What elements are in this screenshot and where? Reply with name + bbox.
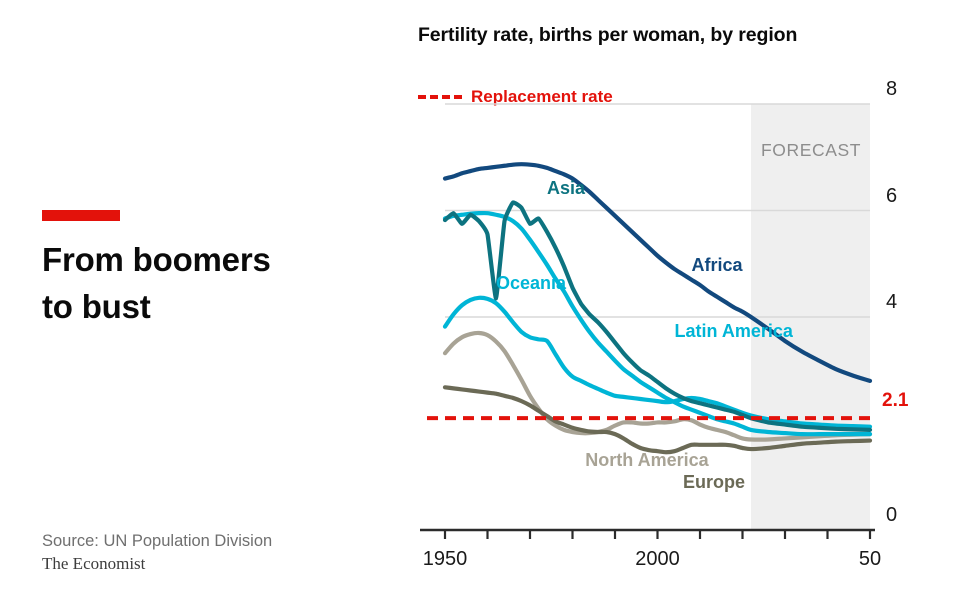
- x-tick-label: 2000: [635, 548, 680, 571]
- source-block: Source: UN Population Division The Econo…: [42, 530, 382, 575]
- headline-line-2: to bust: [42, 284, 372, 331]
- y-tick-label: 4: [886, 291, 897, 314]
- page-title: From boomers to bust: [42, 237, 372, 331]
- headline-panel: From boomers to bust Source: UN Populati…: [0, 0, 400, 600]
- y-tick-label: 6: [886, 185, 897, 208]
- chart-panel: Fertility rate, births per woman, by reg…: [400, 0, 980, 600]
- source-credit: Source: UN Population Division: [42, 530, 382, 552]
- series-label-latin-america: Latin America: [675, 321, 793, 342]
- series-label-north-america: North America: [585, 450, 708, 471]
- brand-name: The Economist: [42, 553, 382, 575]
- series-label-asia: Asia: [547, 178, 585, 199]
- series-label-africa: Africa: [692, 255, 743, 276]
- red-rule: [42, 210, 120, 221]
- replacement-rate-value-label: 2.1: [882, 390, 908, 412]
- x-tick-label: 50: [859, 548, 881, 571]
- y-tick-label: 8: [886, 78, 897, 101]
- forecast-label: FORECAST: [761, 140, 861, 161]
- x-tick-label: 1950: [423, 548, 468, 571]
- headline-line-1: From boomers: [42, 237, 372, 284]
- series-label-europe: Europe: [683, 472, 745, 493]
- y-tick-label: 0: [886, 504, 897, 527]
- series-label-oceania: Oceania: [496, 273, 566, 294]
